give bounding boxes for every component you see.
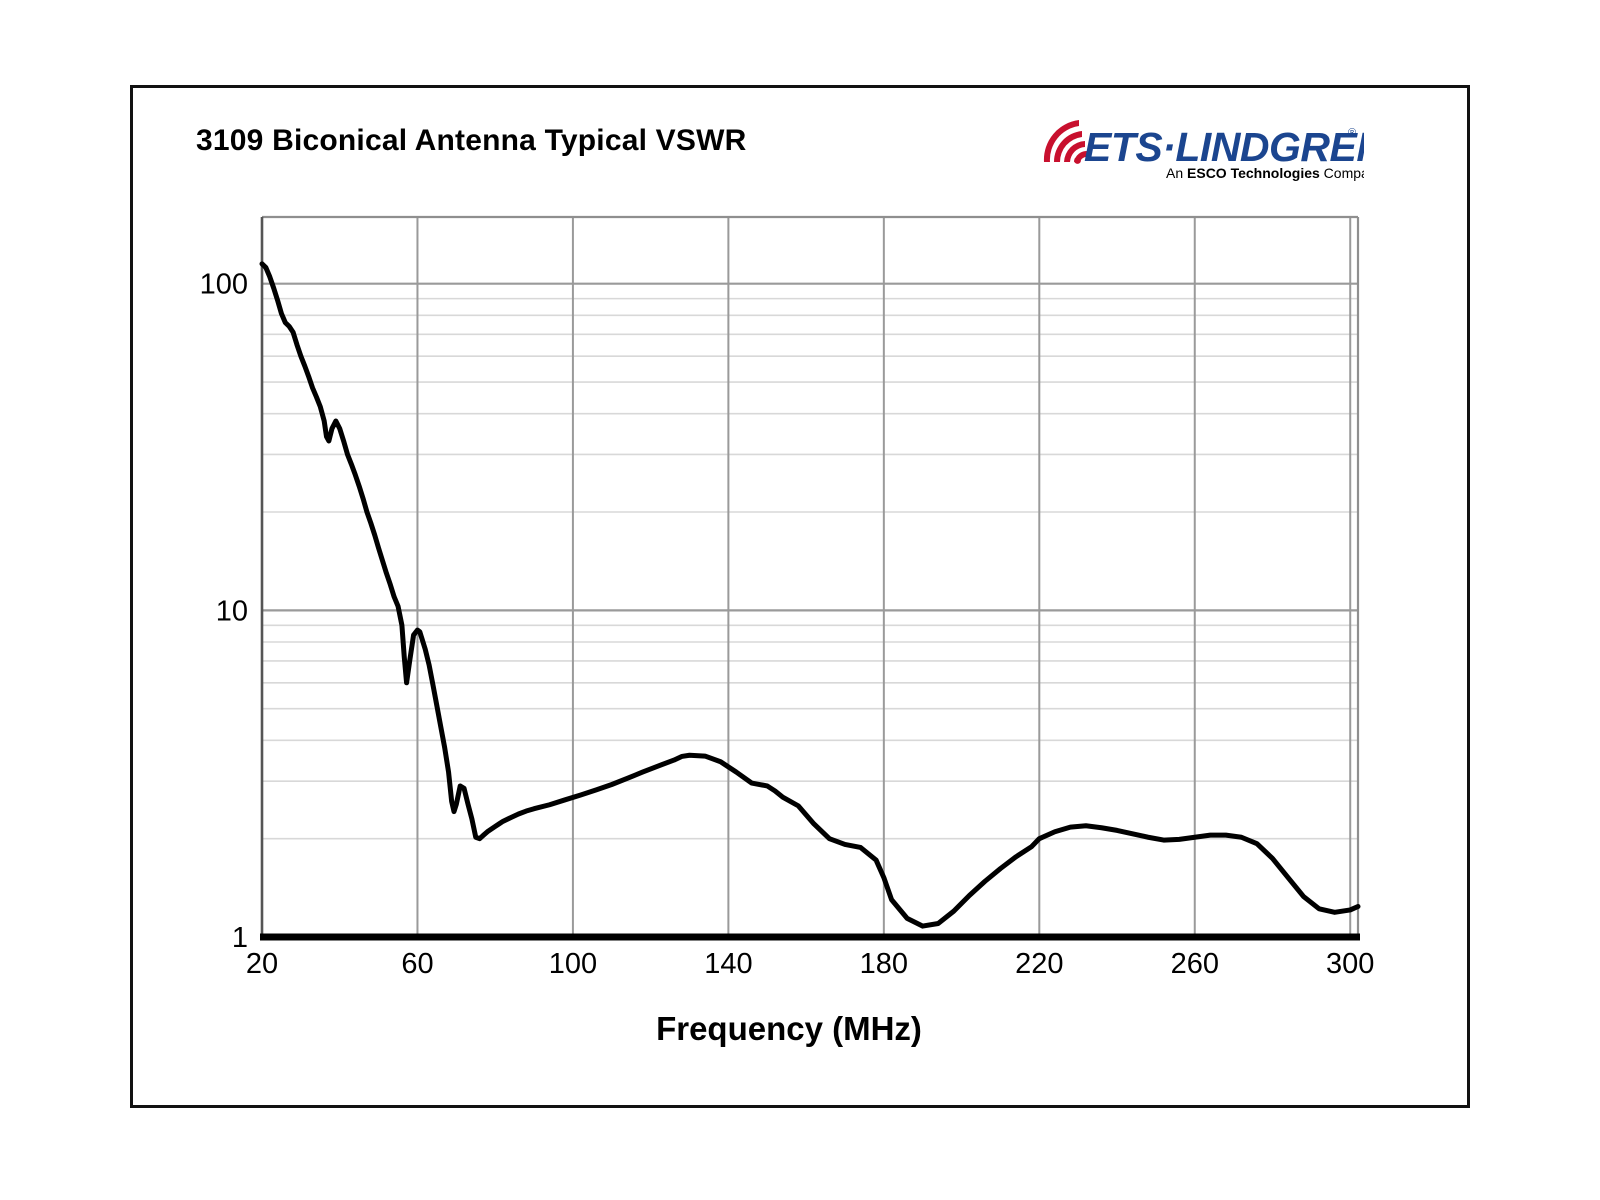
logo-tagline-bold: ESCO Technologies [1187, 165, 1320, 181]
logo-wordmark: ETS·LINDGREN ® [1084, 124, 1364, 170]
logo-registered-icon: ® [1348, 127, 1356, 139]
ets-lindgren-logo: ETS·LINDGREN ® An ESCO Technologies Comp… [1032, 112, 1364, 184]
logo-tagline-suffix: Company [1320, 165, 1364, 181]
svg-text:An ESCO Technologies Company: An ESCO Technologies Company [1166, 165, 1364, 181]
figure-canvas: 3109 Biconical Antenna Typical VSWR ETS·… [0, 0, 1600, 1200]
figure-border [130, 85, 1470, 1108]
logo-tagline-prefix: An [1166, 165, 1187, 181]
logo-tagline: An ESCO Technologies Company [1166, 165, 1364, 181]
logo-waves-icon [1044, 120, 1088, 164]
page-title: 3109 Biconical Antenna Typical VSWR [196, 124, 747, 158]
logo-brand-text: ETS·LINDGREN [1084, 124, 1364, 170]
